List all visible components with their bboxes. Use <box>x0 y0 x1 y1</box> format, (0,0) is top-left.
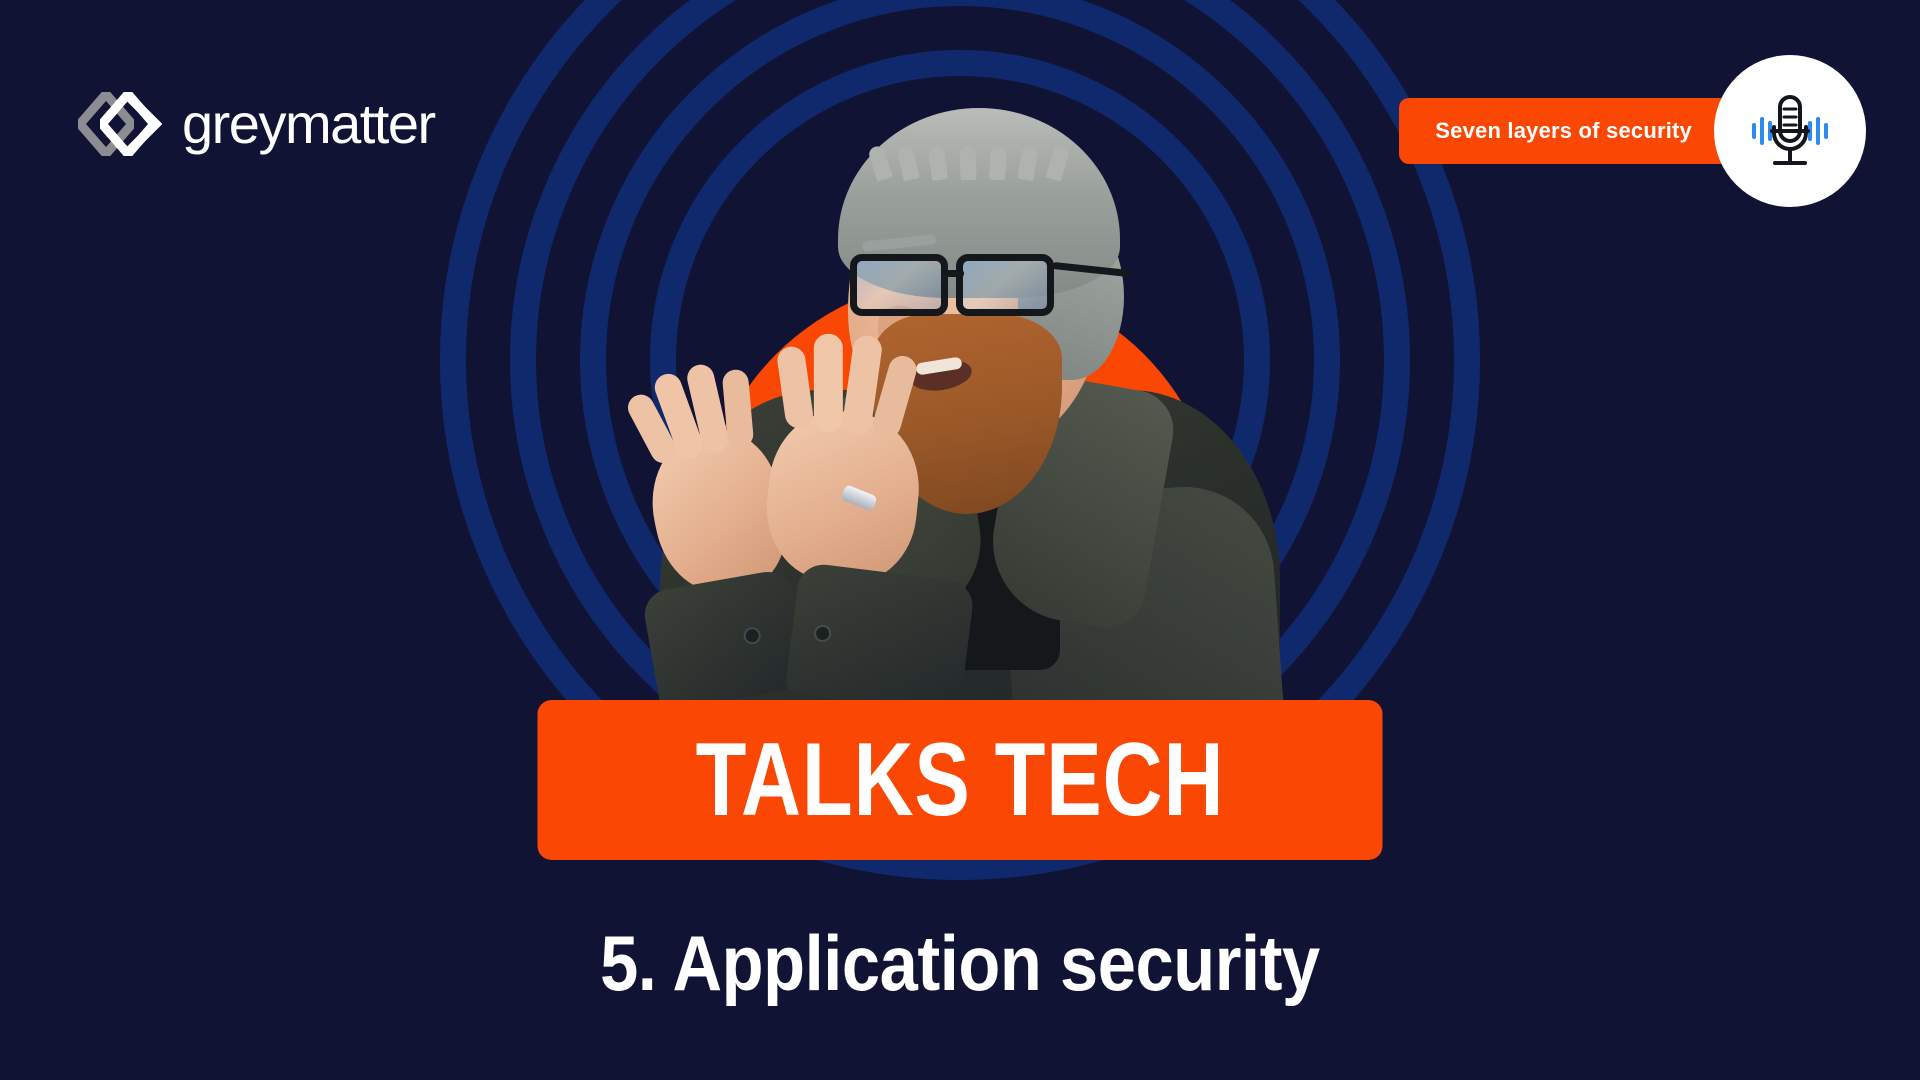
hair-spike <box>959 146 976 181</box>
glasses-bridge <box>946 270 964 277</box>
glasses-temple <box>1052 262 1130 277</box>
hair-spike <box>896 145 919 182</box>
jacket-cuff-right <box>785 562 976 714</box>
glasses-lens-left <box>850 254 948 316</box>
episode-badge[interactable]: Seven layers of security <box>1399 55 1866 207</box>
double-chevron-diamond-icon <box>78 88 162 160</box>
glasses-icon <box>846 248 1122 320</box>
podcast-microphone-icon <box>1714 55 1866 207</box>
brand-logo[interactable]: greymatter <box>78 88 435 160</box>
talks-tech-banner: TALKS TECH <box>538 700 1383 860</box>
cuff-button <box>815 626 829 640</box>
hair-spike <box>1017 145 1039 181</box>
brand-name: greymatter <box>182 96 435 152</box>
slide-canvas: greymatter Seven layers of security <box>0 0 1920 1080</box>
episode-title: 5. Application security <box>0 918 1920 1009</box>
hair-spike <box>928 145 948 181</box>
hair-spike <box>989 145 1007 180</box>
cuff-button <box>745 628 760 643</box>
hair-spike <box>867 144 893 181</box>
glasses-lens-right <box>956 254 1054 316</box>
hair-spike <box>1046 144 1071 181</box>
jacket-cuff-left <box>641 568 810 712</box>
chevron-arrow-white <box>122 92 162 156</box>
finger <box>722 369 755 449</box>
finger <box>814 334 843 432</box>
talks-tech-label: TALKS TECH <box>696 728 1225 832</box>
episode-title-text: 5. Application security <box>600 918 1320 1009</box>
